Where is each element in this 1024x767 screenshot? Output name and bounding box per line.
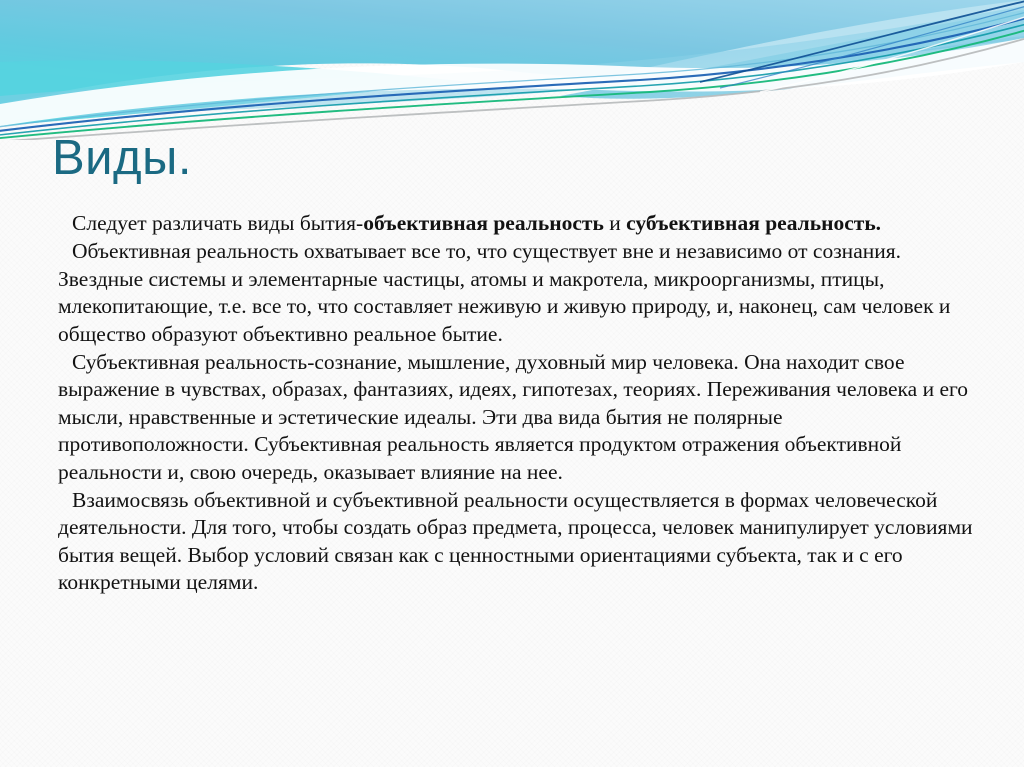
body-paragraph: Субъективная реальность-сознание, мышлен… [58,349,973,486]
body-text: Взаимосвязь объективной и субъективной р… [58,488,973,594]
body-text-bold: объективная реальность [363,211,604,235]
body-paragraph: Объективная реальность охватывает все то… [58,238,973,348]
slide-body: Следует различать виды бытия-объективная… [58,210,973,598]
body-text: Объективная реальность охватывает все то… [58,239,950,345]
body-text: и [604,211,626,235]
body-text-bold: субъективная реальность. [626,211,881,235]
wave-header-graphic [0,0,1024,140]
slide-title: Виды. [52,132,192,186]
body-paragraph: Следует различать виды бытия-объективная… [58,210,973,237]
body-paragraph: Взаимосвязь объективной и субъективной р… [58,487,973,597]
body-text: Следует различать виды бытия- [72,211,363,235]
body-text: Субъективная реальность-сознание, мышлен… [58,350,968,484]
presentation-slide: Виды. Следует различать виды бытия-объек… [0,0,1024,767]
